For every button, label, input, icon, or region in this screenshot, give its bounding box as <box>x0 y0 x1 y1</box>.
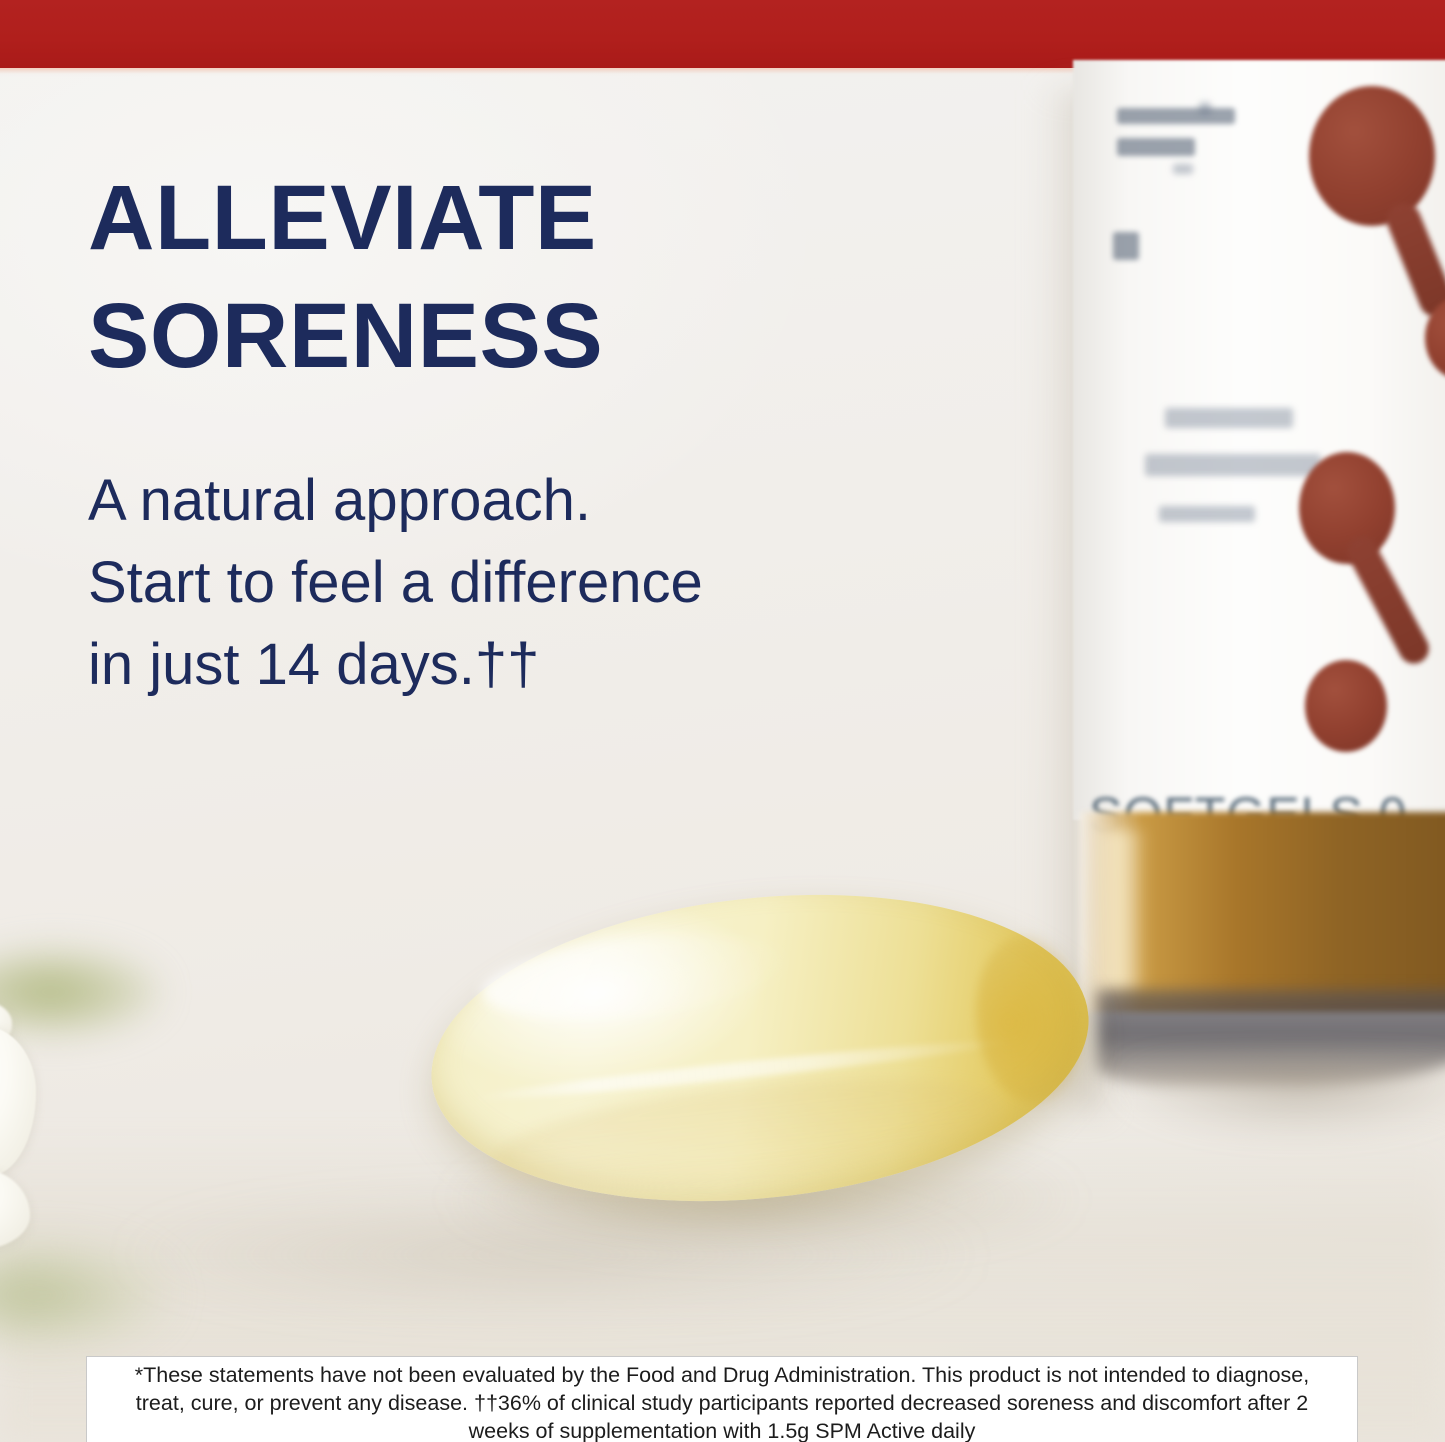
headline: ALLEVIATE SORENESS <box>88 160 968 396</box>
flower-petal-lower <box>0 1168 30 1250</box>
bottle-base-shadow <box>1113 1060 1445 1138</box>
label-text-line <box>1113 232 1139 260</box>
disclaimer-line-2: treat, cure, or prevent any disease. ††3… <box>97 1390 1347 1418</box>
subcopy-line-1: A natural approach. <box>88 468 591 533</box>
white-flower <box>0 1000 88 1270</box>
subcopy-line-3: in just 14 days.†† <box>88 632 539 697</box>
top-red-bar <box>0 0 1445 68</box>
molecule-node-icon <box>1305 660 1387 752</box>
copy-block: ALLEVIATE SORENESS A natural approach. S… <box>88 160 968 707</box>
label-text-line <box>1173 164 1193 174</box>
subcopy-line-2: Start to feel a difference <box>88 550 703 615</box>
disclaimer-line-3: weeks of supplementation with 1.5g SPM A… <box>97 1418 1347 1442</box>
label-text-line <box>1145 454 1321 476</box>
label-text-line <box>1117 138 1195 156</box>
subcopy: A natural approach. Start to feel a diff… <box>88 460 968 707</box>
disclaimer-box: *These statements have not been evaluate… <box>86 1356 1358 1442</box>
flower-petal-main <box>0 1026 36 1176</box>
molecule-node-icon <box>1309 86 1435 226</box>
label-text-line <box>1165 408 1293 428</box>
label-text-line <box>1117 108 1235 124</box>
label-text-line <box>1159 506 1255 522</box>
bottle-glass-highlight <box>1091 830 1149 990</box>
headline-line-2: SORENESS <box>88 285 603 387</box>
label-trademark-mark <box>1199 102 1211 114</box>
supplement-bottle: SOFTGELS 0 <box>1073 60 1445 1170</box>
disclaimer-line-1: *These statements have not been evaluate… <box>97 1362 1347 1390</box>
product-ad-canvas: SOFTGELS 0 ALLEVIATE SORENESS A natural … <box>0 0 1445 1442</box>
headline-line-1: ALLEVIATE <box>88 167 597 269</box>
